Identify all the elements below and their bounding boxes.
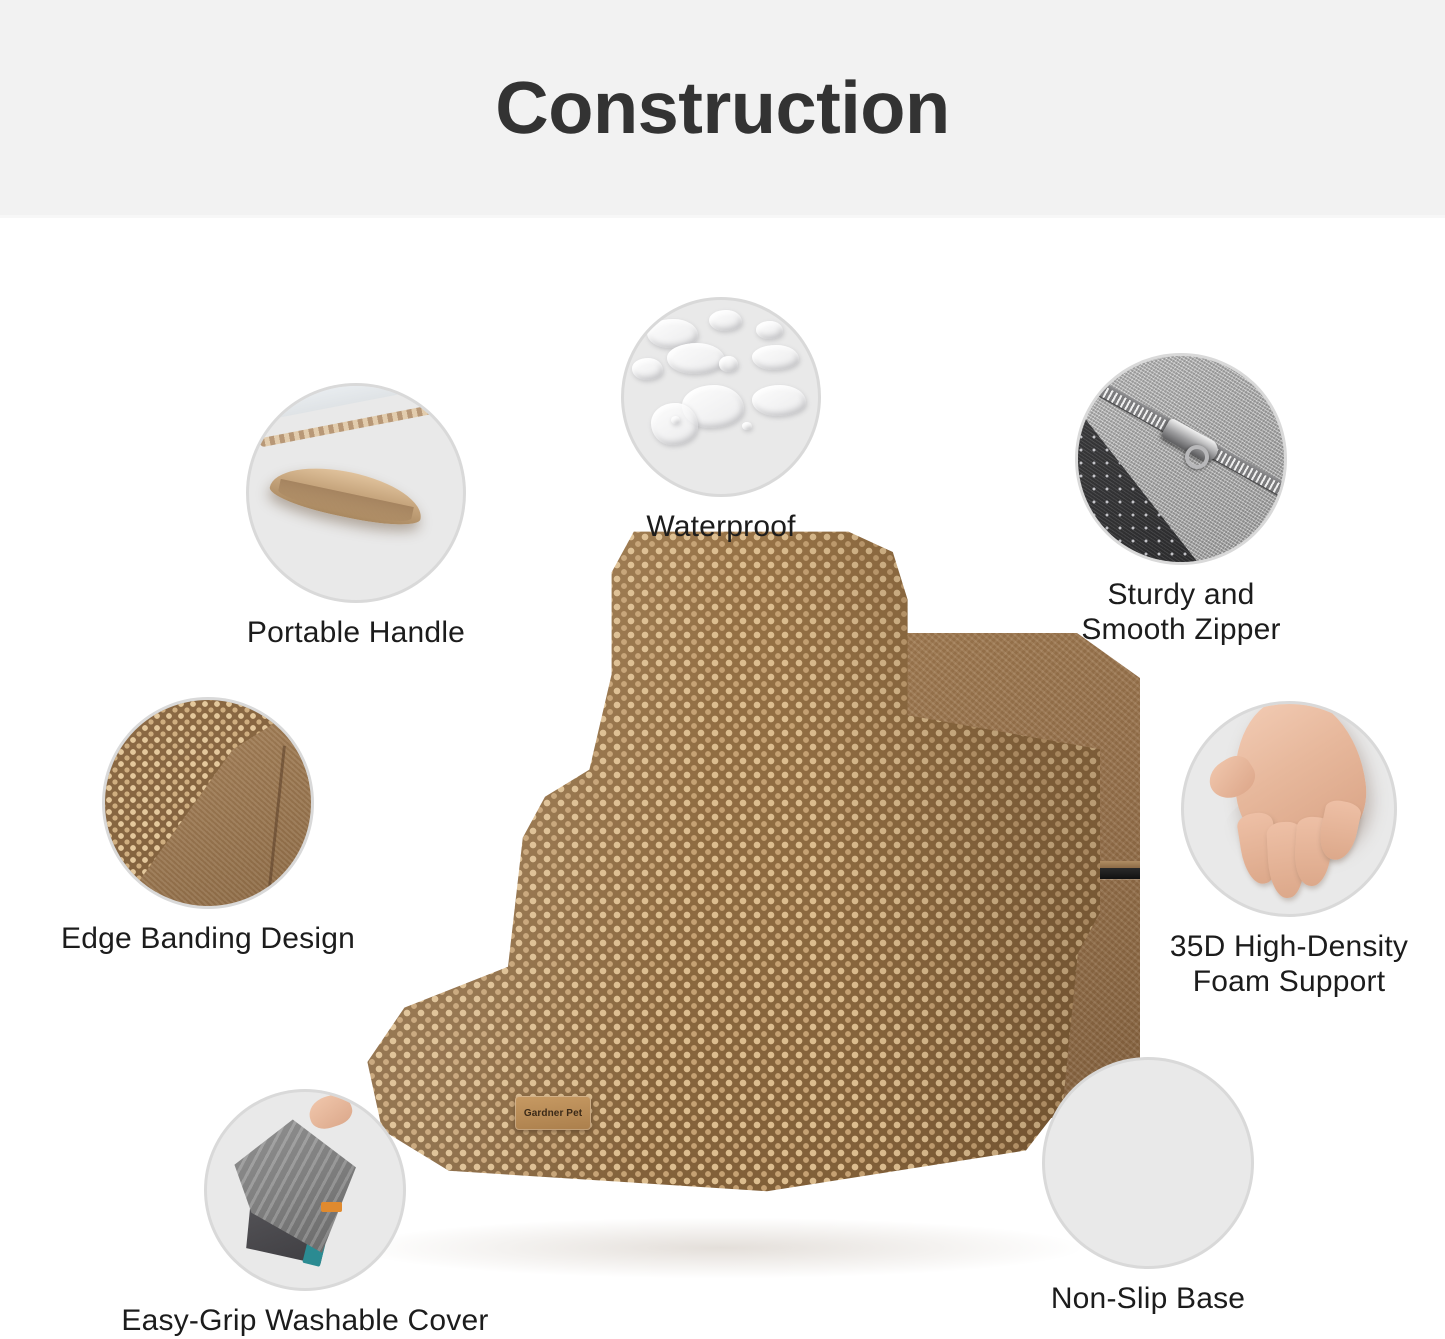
handle-strap — [267, 456, 427, 532]
infographic-stage: Gardner Pet Portable Handle Waterproof — [0, 218, 1445, 1335]
feature-easy-grip-washable-cover-label: Easy-Grip Washable Cover — [90, 1304, 520, 1339]
feature-portable-handle-label: Portable Handle — [196, 616, 516, 651]
feature-foam-support-label: 35D High-Density Foam Support — [1114, 930, 1445, 1000]
water-droplet — [632, 358, 663, 379]
page-title: Construction — [495, 71, 949, 145]
water-droplet — [667, 343, 725, 374]
water-droplet — [752, 345, 799, 370]
brand-label-tag: Gardner Pet — [515, 1096, 591, 1130]
water-droplet — [742, 422, 752, 430]
water-droplets-icon — [624, 300, 818, 494]
handle-icon — [249, 386, 463, 600]
feature-sturdy-smooth-zipper: Sturdy and Smooth Zipper — [1016, 356, 1346, 648]
cover-lifting-hand — [305, 1092, 356, 1133]
feature-portable-handle: Portable Handle — [196, 386, 516, 651]
brand-label-text: Gardner Pet — [524, 1108, 582, 1119]
water-droplet — [651, 403, 698, 446]
water-droplet — [719, 356, 738, 372]
header-band: Construction — [0, 0, 1445, 218]
water-droplet — [709, 310, 742, 331]
feature-non-slip-base: Non-Slip Base — [988, 1060, 1308, 1317]
water-droplet — [752, 385, 806, 416]
feature-waterproof: Waterproof — [624, 300, 818, 545]
grip-dots-icon — [1045, 1060, 1251, 1266]
feature-waterproof-label: Waterproof — [624, 510, 818, 545]
feature-sturdy-smooth-zipper-label: Sturdy and Smooth Zipper — [1016, 578, 1346, 648]
washable-cover-icon — [207, 1092, 403, 1288]
feature-edge-banding-design-label: Edge Banding Design — [8, 922, 408, 957]
cover-orange-tag — [321, 1202, 343, 1212]
zipper-icon — [1078, 356, 1284, 562]
edge-band-icon — [105, 700, 311, 906]
hand-press-foam-icon — [1184, 704, 1394, 914]
water-droplet — [756, 321, 783, 338]
feature-edge-banding-design: Edge Banding Design — [8, 700, 408, 957]
feature-easy-grip-washable-cover: Easy-Grip Washable Cover — [90, 1092, 520, 1339]
feature-non-slip-base-label: Non-Slip Base — [988, 1282, 1308, 1317]
feature-foam-support: 35D High-Density Foam Support — [1114, 704, 1445, 1000]
